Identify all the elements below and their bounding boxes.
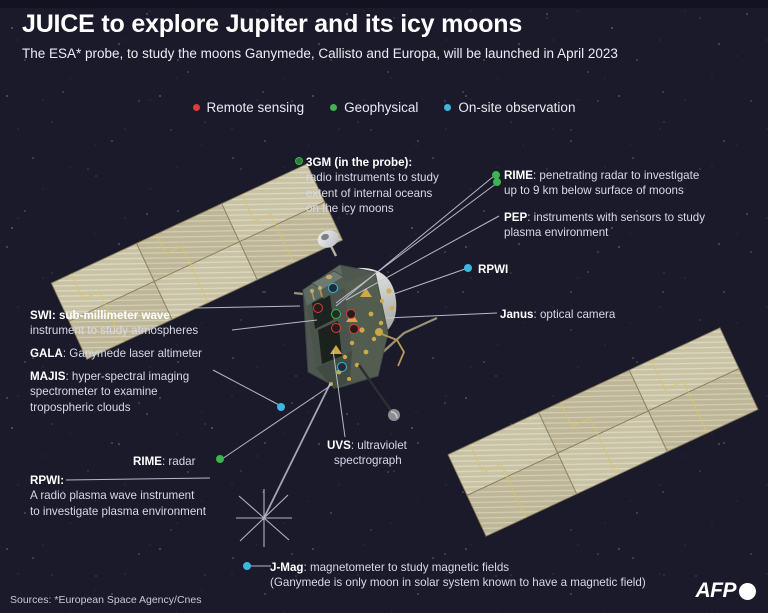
callout-jmag-line1: : magnetometer to study magnetic fields	[304, 561, 510, 574]
callout-uvs-line1: : ultraviolet	[351, 439, 407, 452]
callout-uvs: UVS: ultraviolet spectrograph	[327, 438, 437, 469]
callout-janus: Janus: optical camera	[500, 307, 615, 322]
callout-3gm-line2: extent of internal oceans	[306, 187, 432, 200]
body-marker-remote-2-icon	[346, 309, 356, 319]
callout-pep-name: PEP	[504, 211, 527, 224]
callout-rime-top-name: RIME	[504, 169, 533, 182]
callout-swi-desc: instrument to study atmospheres	[30, 324, 198, 337]
callout-janus-name: Janus	[500, 308, 534, 321]
legend-dot-icon	[193, 104, 200, 111]
callout-swi-name: SWI: sub-millimeter wave	[30, 309, 170, 322]
spacecraft-illustration	[0, 0, 768, 613]
legend: Remote sensing Geophysical On-site obser…	[0, 100, 768, 115]
sources-note: Sources: *European Space Agency/Cnes	[10, 594, 201, 606]
callout-uvs-line2: spectrograph	[334, 454, 402, 467]
body-marker-remote-4-icon	[349, 324, 359, 334]
solar-array-right	[448, 328, 758, 536]
callout-3gm-line1: radio instruments to study	[306, 171, 439, 184]
callout-gala-name: GALA	[30, 347, 63, 360]
callout-rime-left-desc: : radar	[162, 455, 196, 468]
callout-majis-anchor-dot-icon	[277, 403, 285, 411]
callout-3gm-line3: on the icy moons	[306, 202, 394, 215]
callout-3gm-anchor-dot-icon	[493, 178, 501, 186]
callout-majis: MAJIS: hyper-spectral imaging spectromet…	[30, 369, 230, 415]
body-marker-remote-1-icon	[313, 303, 323, 313]
callout-majis-line1: : hyper-spectral imaging	[65, 370, 189, 383]
body-marker-geophysical-icon	[331, 309, 341, 319]
legend-dot-icon	[330, 104, 337, 111]
callout-jmag-line2: (Ganymede is only moon in solar system k…	[270, 576, 646, 589]
afp-logo-text: AFP	[696, 579, 737, 603]
afp-logo: AFP	[696, 579, 757, 603]
infographic-canvas: JUICE to explore Jupiter and its icy moo…	[0, 0, 768, 613]
callout-rpwi-right-name: RPWI	[478, 263, 508, 276]
legend-item-geophysical: Geophysical	[330, 100, 418, 115]
callout-rpwi-right: RPWI	[478, 262, 508, 277]
callout-rime-left: RIME: radar	[133, 454, 196, 469]
legend-label: On-site observation	[458, 100, 575, 115]
callout-majis-line3: tropospheric clouds	[30, 401, 131, 414]
callout-rime-top: RIME: penetrating radar to investigate u…	[504, 168, 734, 199]
callout-majis-line2: spectrometer to examine	[30, 385, 158, 398]
callout-rpwi-left-line2: to investigate plasma environment	[30, 505, 206, 518]
callout-rime-left-name: RIME	[133, 455, 162, 468]
callout-majis-name: MAJIS	[30, 370, 65, 383]
callout-pep-line1: : instruments with sensors to study	[527, 211, 705, 224]
callout-swi: SWI: sub-millimeter wave instrument to s…	[30, 308, 240, 339]
legend-dot-icon	[444, 104, 451, 111]
callout-rpwi-left: RPWI: A radio plasma wave instrument to …	[30, 473, 245, 519]
callout-rime-top-bullet-icon	[492, 171, 500, 179]
callout-rime-left-bullet-icon	[216, 455, 224, 463]
afp-logo-circle-icon	[739, 583, 756, 600]
callout-uvs-name: UVS	[327, 439, 351, 452]
callout-gala: GALA: Ganymede laser altimeter	[30, 346, 202, 361]
callout-rime-top-line2: up to 9 km below surface of moons	[504, 184, 684, 197]
callout-3gm-name: 3GM (in the probe):	[306, 156, 412, 169]
legend-label: Geophysical	[344, 100, 418, 115]
legend-item-remote-sensing: Remote sensing	[193, 100, 305, 115]
callout-jmag-name: J-Mag	[270, 561, 304, 574]
legend-item-onsite-observation: On-site observation	[444, 100, 575, 115]
callout-3gm: 3GM (in the probe): radio instruments to…	[306, 155, 481, 216]
callout-jmag-bullet-icon	[243, 562, 251, 570]
callout-pep-line2: plasma environment	[504, 226, 608, 239]
callout-janus-desc: : optical camera	[534, 308, 616, 321]
callout-rpwi-right-bullet-icon	[464, 264, 472, 272]
callout-rime-top-line1: : penetrating radar to investigate	[533, 169, 699, 182]
callout-jmag: J-Mag: magnetometer to study magnetic fi…	[270, 560, 720, 591]
body-marker-onsite-lower-icon	[337, 362, 347, 372]
callout-pep: PEP: instruments with sensors to study p…	[504, 210, 739, 241]
callout-rpwi-left-line1: A radio plasma wave instrument	[30, 489, 194, 502]
callout-rpwi-left-name: RPWI:	[30, 474, 64, 487]
page-subtitle: The ESA* probe, to study the moons Ganym…	[22, 46, 752, 62]
callout-gala-desc: : Ganymede laser altimeter	[63, 347, 202, 360]
body-marker-remote-3-icon	[331, 323, 341, 333]
header: JUICE to explore Jupiter and its icy moo…	[22, 10, 752, 62]
legend-label: Remote sensing	[207, 100, 305, 115]
body-marker-onsite-upper-icon	[328, 283, 338, 293]
page-title: JUICE to explore Jupiter and its icy moo…	[22, 10, 752, 39]
callout-3gm-bullet-icon	[295, 157, 303, 165]
